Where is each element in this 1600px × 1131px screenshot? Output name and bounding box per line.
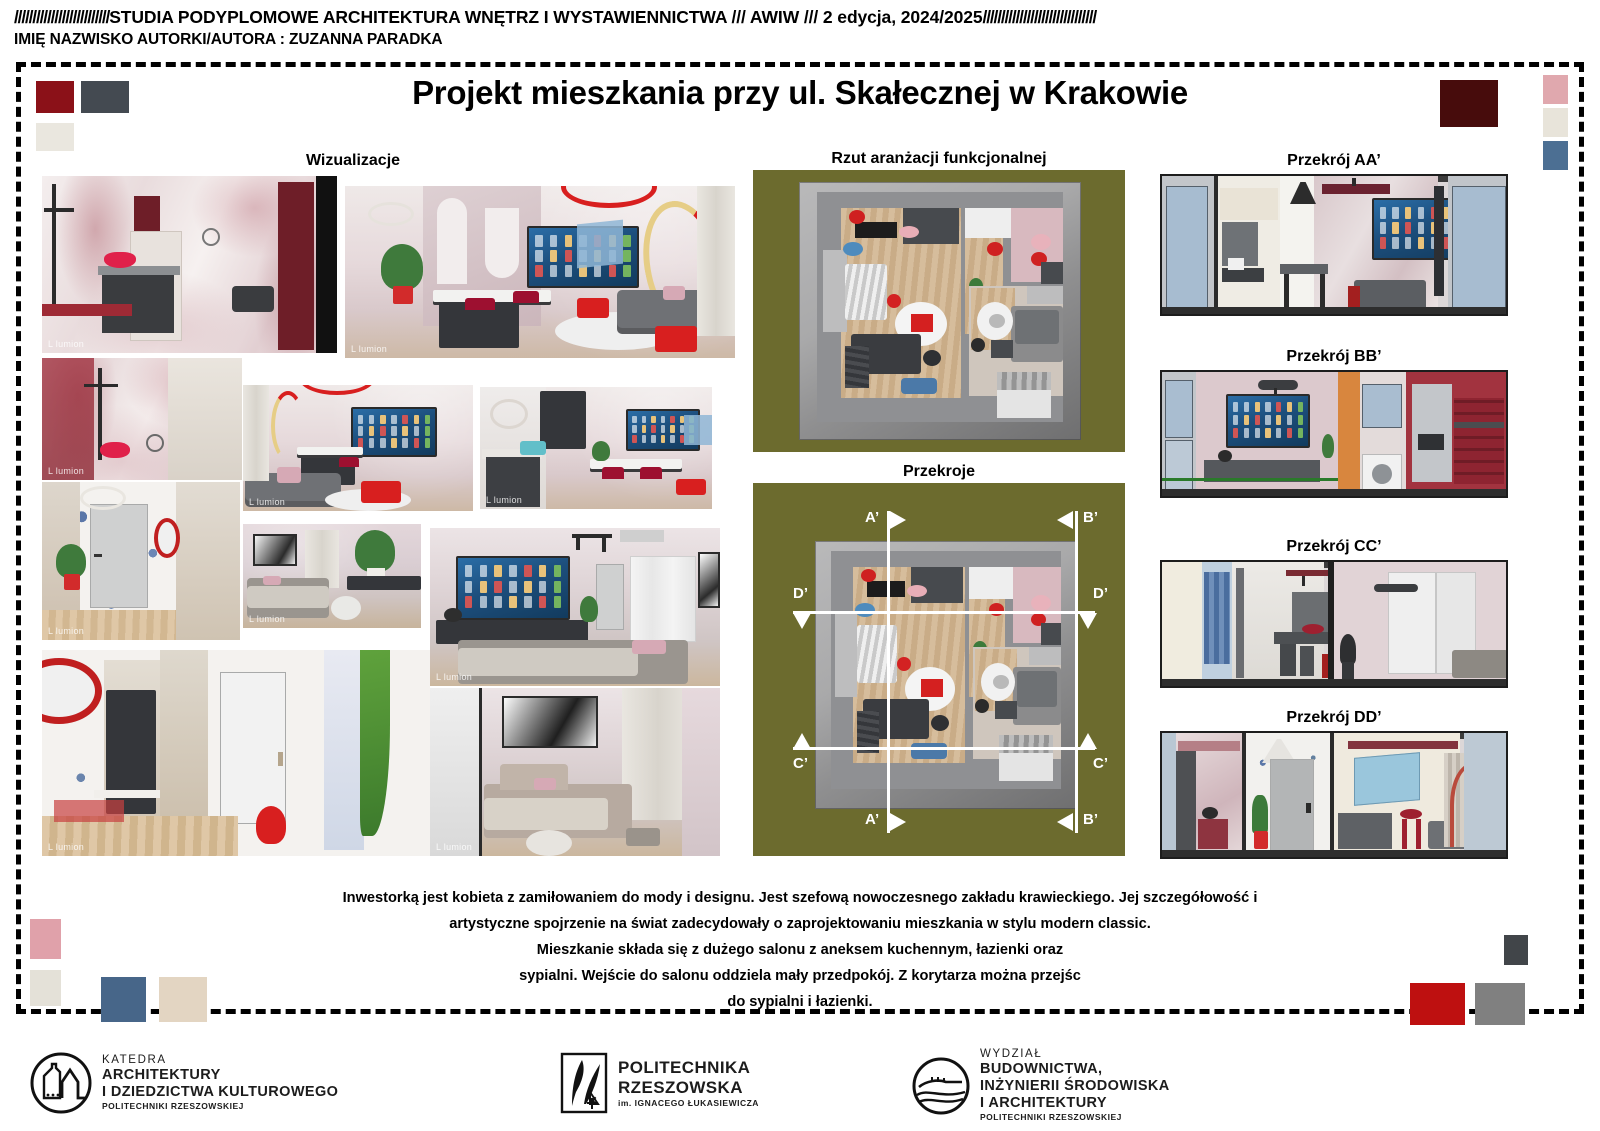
logo-katedra-l1: KATEDRA bbox=[102, 1054, 338, 1067]
swatch-maroon bbox=[1440, 80, 1498, 127]
logo-politechnika-l2: RZESZOWSKA bbox=[618, 1078, 759, 1098]
marker-a-top: A’ bbox=[865, 509, 879, 526]
marker-d-right-arrow bbox=[1079, 613, 1097, 629]
swatch-steel-blue-2 bbox=[101, 977, 146, 1022]
logo-politechnika: POLITECHNIKA RZESZOWSKA im. IGNACEGO ŁUK… bbox=[560, 1052, 759, 1114]
section-line-cc bbox=[793, 747, 1095, 750]
logo-katedra-l3: I DZIEDZICTWA KULTUROWEGO bbox=[102, 1084, 338, 1101]
floor-plan-functional bbox=[753, 170, 1125, 452]
tv-screen bbox=[456, 556, 570, 620]
marker-b-bottom: B’ bbox=[1083, 811, 1098, 828]
swatch-bright-red bbox=[1410, 983, 1465, 1025]
poster-footer: KATEDRA ARCHITEKTURY I DZIEDZICTWA KULTU… bbox=[0, 1022, 1600, 1131]
visualization-hallway-1: L lumion bbox=[42, 482, 240, 640]
watermark-lumion: L lumion bbox=[48, 339, 84, 349]
section-line-dd bbox=[793, 611, 1095, 614]
swatch-cream-2 bbox=[1543, 108, 1568, 137]
swatch-cream-3 bbox=[30, 970, 61, 1006]
project-description: Inwestorką jest kobieta z zamiłowaniem d… bbox=[190, 885, 1410, 1015]
heading-floor-plan: Rzut aranżacji funkcjonalnej bbox=[753, 150, 1125, 168]
marker-d-left-arrow bbox=[793, 613, 811, 629]
logo-wydzial-l4: I ARCHITEKTURY bbox=[980, 1095, 1170, 1112]
marker-a-top-arrow bbox=[890, 511, 906, 529]
logo-wydzial-l3: INŻYNIERII ŚRODOWISKA bbox=[980, 1078, 1170, 1095]
swatch-slate-2 bbox=[1504, 935, 1528, 965]
politechnika-mark-icon bbox=[560, 1052, 608, 1114]
visualization-bathroom-1: L lumion bbox=[42, 176, 337, 353]
description-line-5: do sypialni i łazienki. bbox=[190, 989, 1410, 1015]
logo-wydzial: WYDZIAŁ BUDOWNICTWA, INŻYNIERII ŚRODOWIS… bbox=[912, 1048, 1170, 1123]
section-line-bb bbox=[1075, 511, 1078, 833]
logo-katedra-l2: ARCHITEKTURY bbox=[102, 1067, 338, 1084]
logo-politechnika-l1: POLITECHNIKA bbox=[618, 1058, 759, 1078]
watermark-lumion: L lumion bbox=[436, 672, 472, 682]
heading-sections: Przekroje bbox=[753, 463, 1125, 481]
marker-d-left: D’ bbox=[793, 585, 808, 602]
floor-plan-sections: A’ A’ B’ B’ C’ C’ D’ D’ bbox=[753, 483, 1125, 856]
visualization-bedroom-1: L lumion bbox=[243, 524, 421, 628]
section-drawing-dd bbox=[1160, 731, 1508, 859]
logo-wydzial-l1: WYDZIAŁ bbox=[980, 1048, 1170, 1061]
marker-b-top: B’ bbox=[1083, 509, 1098, 526]
visualization-bathroom-2: L lumion bbox=[42, 358, 242, 480]
swatch-steel-blue bbox=[1543, 141, 1568, 170]
swatch-grey bbox=[1475, 983, 1525, 1025]
marker-c-left: C’ bbox=[793, 755, 808, 772]
watermark-lumion: L lumion bbox=[48, 626, 84, 636]
section-drawing-bb bbox=[1160, 370, 1508, 498]
poster-header: //////////////////////////STUDIA PODYPLO… bbox=[0, 0, 1600, 58]
header-program-line: //////////////////////////STUDIA PODYPLO… bbox=[14, 6, 1586, 28]
watermark-lumion: L lumion bbox=[486, 495, 522, 505]
swatch-cream bbox=[36, 123, 74, 151]
marker-b-bottom-arrow bbox=[1057, 813, 1073, 831]
swatch-slate bbox=[81, 81, 129, 113]
watermark-lumion: L lumion bbox=[48, 842, 84, 852]
logo-wydzial-l2: BUDOWNICTWA, bbox=[980, 1061, 1170, 1078]
watermark-lumion: L lumion bbox=[48, 466, 84, 476]
wydzial-circle-icon bbox=[912, 1055, 970, 1117]
marker-d-right: D’ bbox=[1093, 585, 1108, 602]
visualization-bedroom-2: L lumion bbox=[430, 528, 720, 686]
description-line-2: artystyczne spojrzenie na świat zadecydo… bbox=[190, 911, 1410, 937]
marker-a-bottom-arrow bbox=[890, 813, 906, 831]
header-slashes-left: ////////////////////////// bbox=[14, 7, 109, 27]
visualization-living-1: L lumion bbox=[345, 186, 735, 358]
watermark-lumion: L lumion bbox=[249, 614, 285, 624]
section-line-aa bbox=[887, 511, 890, 833]
marker-c-right-arrow bbox=[1079, 733, 1097, 749]
header-slashes-right: /////////////////////////////// bbox=[983, 7, 1097, 27]
description-line-4: sypialni. Wejście do salonu oddziela mał… bbox=[190, 963, 1410, 989]
swatch-pink-2 bbox=[30, 919, 61, 959]
logo-politechnika-l3: im. IGNACEGO ŁUKASIEWICZA bbox=[618, 1098, 759, 1109]
watermark-lumion: L lumion bbox=[436, 842, 472, 852]
heading-section-dd: Przekrój DD’ bbox=[1160, 709, 1508, 727]
visualization-hallway-2: L lumion bbox=[42, 650, 430, 856]
marker-b-top-arrow bbox=[1057, 511, 1073, 529]
heading-visualizations: Wizualizacje bbox=[233, 152, 473, 170]
section-drawing-cc bbox=[1160, 560, 1508, 688]
heading-section-cc: Przekrój CC’ bbox=[1160, 538, 1508, 556]
logo-katedra-text: KATEDRA ARCHITEKTURY I DZIEDZICTWA KULTU… bbox=[102, 1054, 338, 1112]
section-drawing-aa bbox=[1160, 174, 1508, 316]
logo-politechnika-text: POLITECHNIKA RZESZOWSKA im. IGNACEGO ŁUK… bbox=[618, 1058, 759, 1109]
visualization-kitchen-1: L lumion bbox=[480, 387, 712, 509]
logo-katedra: KATEDRA ARCHITEKTURY I DZIEDZICTWA KULTU… bbox=[30, 1052, 338, 1114]
tv-screen bbox=[351, 407, 437, 457]
page-title: Projekt mieszkania przy ul. Skałecznej w… bbox=[0, 74, 1600, 112]
swatch-dark-red bbox=[36, 81, 74, 113]
marker-a-bottom: A’ bbox=[865, 811, 879, 828]
header-program-text: STUDIA PODYPLOMOWE ARCHITEKTURA WNĘTRZ I… bbox=[109, 7, 982, 27]
heading-section-bb: Przekrój BB’ bbox=[1160, 348, 1508, 366]
visualization-bedroom-3: L lumion bbox=[430, 688, 720, 856]
visualization-living-2: L lumion bbox=[243, 385, 473, 511]
poster-root: //////////////////////////STUDIA PODYPLO… bbox=[0, 0, 1600, 1131]
heading-section-aa: Przekrój AA’ bbox=[1160, 152, 1508, 170]
logo-wydzial-l5: POLITECHNIKI RZESZOWSKIEJ bbox=[980, 1112, 1170, 1123]
description-line-1: Inwestorką jest kobieta z zamiłowaniem d… bbox=[190, 885, 1410, 911]
logo-katedra-l4: POLITECHNIKI RZESZOWSKIEJ bbox=[102, 1101, 338, 1112]
watermark-lumion: L lumion bbox=[351, 344, 387, 354]
marker-c-right: C’ bbox=[1093, 755, 1108, 772]
marker-c-left-arrow bbox=[793, 733, 811, 749]
header-author-line: IMIĘ NAZWISKO AUTORKI/AUTORA : ZUZANNA P… bbox=[14, 30, 1586, 50]
swatch-pink bbox=[1543, 75, 1568, 104]
watermark-lumion: L lumion bbox=[249, 497, 285, 507]
tv-screen bbox=[1226, 394, 1310, 448]
katedra-building-icon bbox=[30, 1052, 92, 1114]
logo-wydzial-text: WYDZIAŁ BUDOWNICTWA, INŻYNIERII ŚRODOWIS… bbox=[980, 1048, 1170, 1123]
description-line-3: Mieszkanie składa się z dużego salonu z … bbox=[190, 937, 1410, 963]
